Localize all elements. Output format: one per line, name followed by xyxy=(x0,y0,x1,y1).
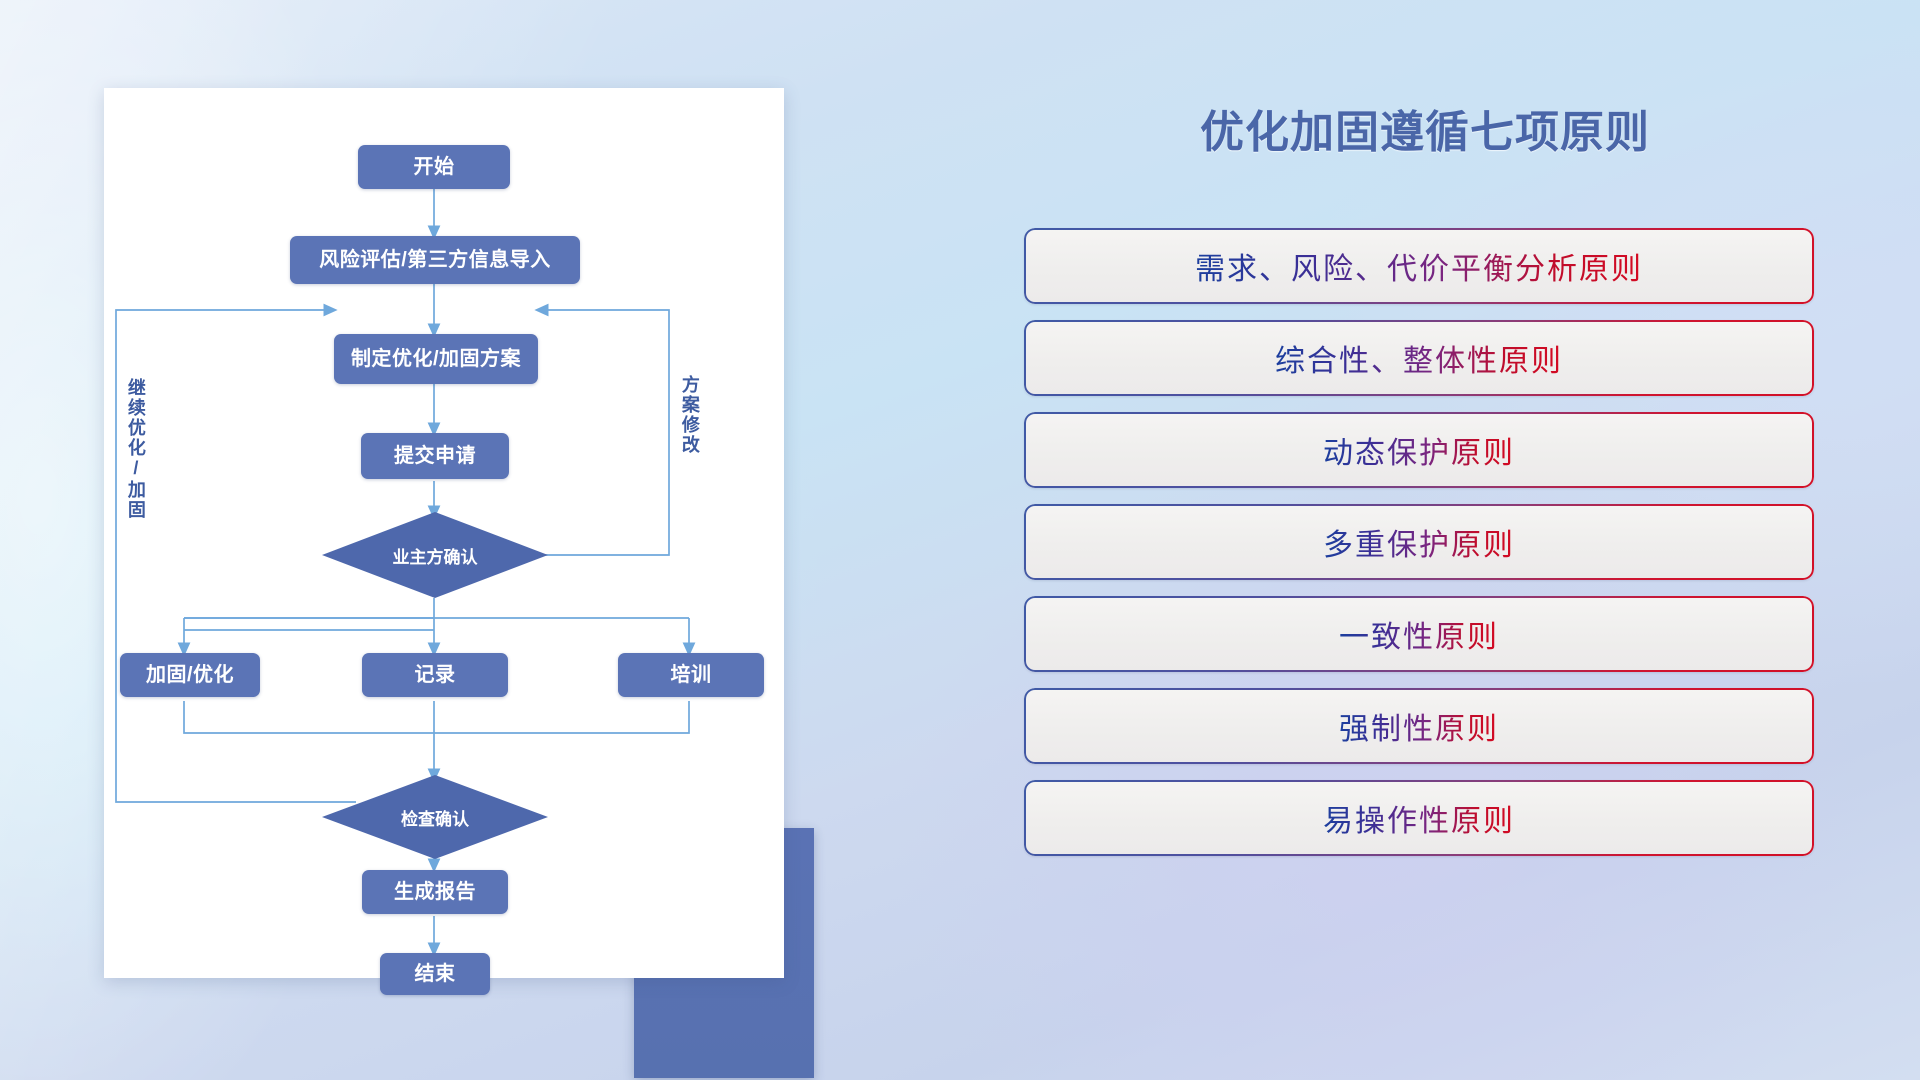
flow-node-make-plan[interactable]: 制定优化/加固方案 xyxy=(334,334,538,384)
flowchart-card: 开始 风险评估/第三方信息导入 制定优化/加固方案 提交申请 业主方确认 加固/… xyxy=(104,88,784,978)
panel-title: 优化加固遵循七项原则 xyxy=(1020,96,1830,160)
flow-node-risk-assessment-label: 风险评估/第三方信息导入 xyxy=(319,249,551,271)
principle-label: 易操作性原则 xyxy=(1323,796,1515,840)
flow-node-end[interactable]: 结束 xyxy=(380,953,490,995)
principle-label: 一致性原则 xyxy=(1339,612,1499,656)
flow-node-report[interactable]: 生成报告 xyxy=(362,870,508,914)
principle-item[interactable]: 易操作性原则 xyxy=(1024,780,1814,856)
flow-node-risk-assessment[interactable]: 风险评估/第三方信息导入 xyxy=(290,236,580,284)
principle-item[interactable]: 动态保护原则 xyxy=(1024,412,1814,488)
principle-label: 需求、风险、代价平衡分析原则 xyxy=(1195,244,1643,288)
flow-node-owner-confirm-label: 业主方确认 xyxy=(393,543,478,568)
principle-label: 综合性、整体性原则 xyxy=(1275,336,1563,380)
principle-label: 动态保护原则 xyxy=(1323,428,1515,472)
flow-node-end-label: 结束 xyxy=(415,963,456,985)
flow-node-start-label: 开始 xyxy=(414,156,455,178)
flow-node-submit[interactable]: 提交申请 xyxy=(361,433,509,479)
flow-node-check-confirm-label: 检查确认 xyxy=(401,805,469,830)
flowchart-panel: 开始 风险评估/第三方信息导入 制定优化/加固方案 提交申请 业主方确认 加固/… xyxy=(104,88,804,978)
principle-item[interactable]: 需求、风险、代价平衡分析原则 xyxy=(1024,228,1814,304)
flow-node-training[interactable]: 培训 xyxy=(618,653,764,697)
flow-node-report-label: 生成报告 xyxy=(394,881,476,903)
principle-item[interactable]: 一致性原则 xyxy=(1024,596,1814,672)
principle-label: 多重保护原则 xyxy=(1323,520,1515,564)
principles-list: 需求、风险、代价平衡分析原则 综合性、整体性原则 动态保护原则 多重保护原则 一… xyxy=(1024,228,1814,872)
flow-node-training-label: 培训 xyxy=(671,664,712,686)
principle-label: 强制性原则 xyxy=(1339,704,1499,748)
principle-item[interactable]: 综合性、整体性原则 xyxy=(1024,320,1814,396)
flow-node-make-plan-label: 制定优化/加固方案 xyxy=(351,348,521,370)
flow-edge-label-right: 方案修改 xyxy=(680,375,699,455)
flow-node-record-label: 记录 xyxy=(415,664,456,686)
flow-node-reinforce[interactable]: 加固/优化 xyxy=(120,653,260,697)
principle-item[interactable]: 强制性原则 xyxy=(1024,688,1814,764)
flow-node-reinforce-label: 加固/优化 xyxy=(146,664,234,686)
flow-node-record[interactable]: 记录 xyxy=(362,653,508,697)
principles-panel: 优化加固遵循七项原则 需求、风险、代价平衡分析原则 综合性、整体性原则 动态保护… xyxy=(1020,78,1830,1008)
flow-node-start[interactable]: 开始 xyxy=(358,145,510,189)
principle-item[interactable]: 多重保护原则 xyxy=(1024,504,1814,580)
flow-edge-label-left: 继续优化/加固 xyxy=(126,378,145,520)
flow-node-submit-label: 提交申请 xyxy=(394,445,476,467)
